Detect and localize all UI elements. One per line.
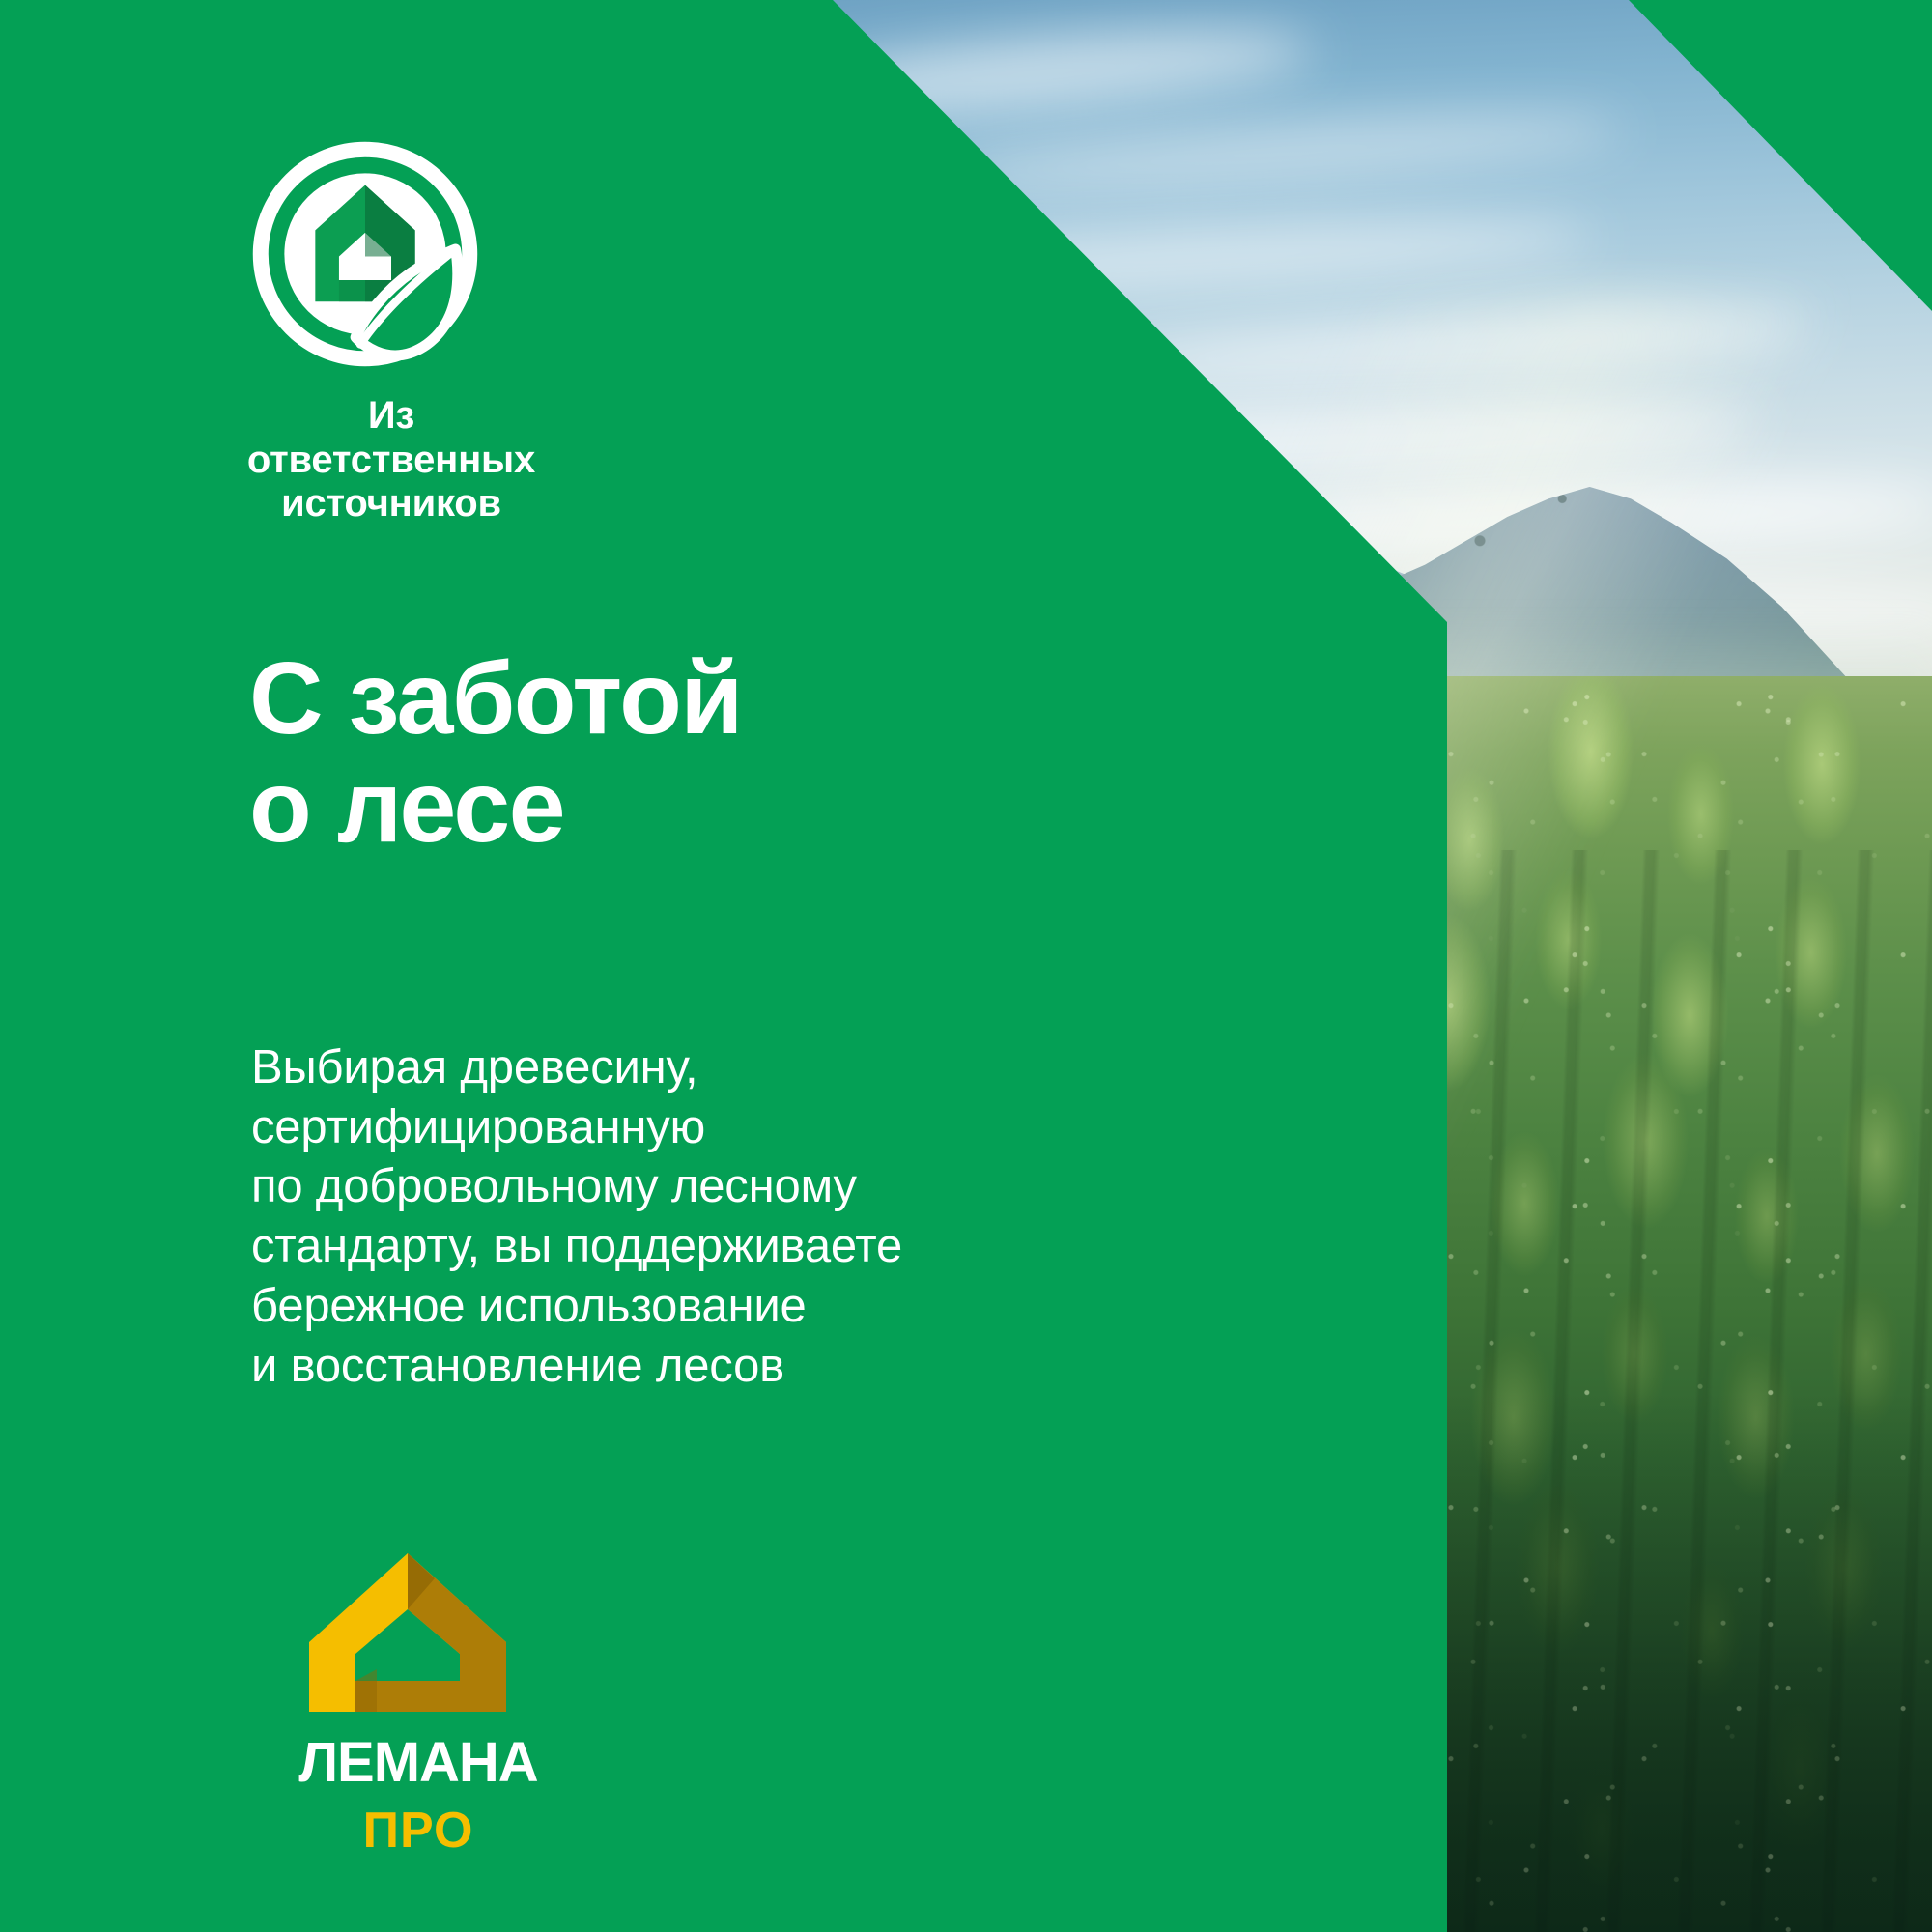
eco-badge-caption: Из ответственных источников xyxy=(246,394,536,526)
brand-subtitle-pro: ПРО xyxy=(327,1803,510,1857)
house-leaf-circle-icon xyxy=(246,135,484,373)
brand-name-lemana: ЛЕМАНА xyxy=(259,1733,578,1793)
svg-text:ЛЕМАНА: ЛЕМАНА xyxy=(298,1733,537,1793)
lemana-house-icon xyxy=(301,1546,514,1719)
poster-canvas: Из ответственных источников С заботой о … xyxy=(0,0,1932,1932)
brand-logo: ЛЕМАНА ПРО xyxy=(259,1546,607,1857)
eco-badge: Из ответственных источников xyxy=(246,135,536,526)
body-paragraph: Выбирая древесину, сертифицированную по … xyxy=(251,1038,902,1396)
page-title: С заботой о лесе xyxy=(249,644,742,862)
poster-content: Из ответственных источников С заботой о … xyxy=(0,0,1932,1932)
svg-text:ПРО: ПРО xyxy=(363,1803,474,1857)
